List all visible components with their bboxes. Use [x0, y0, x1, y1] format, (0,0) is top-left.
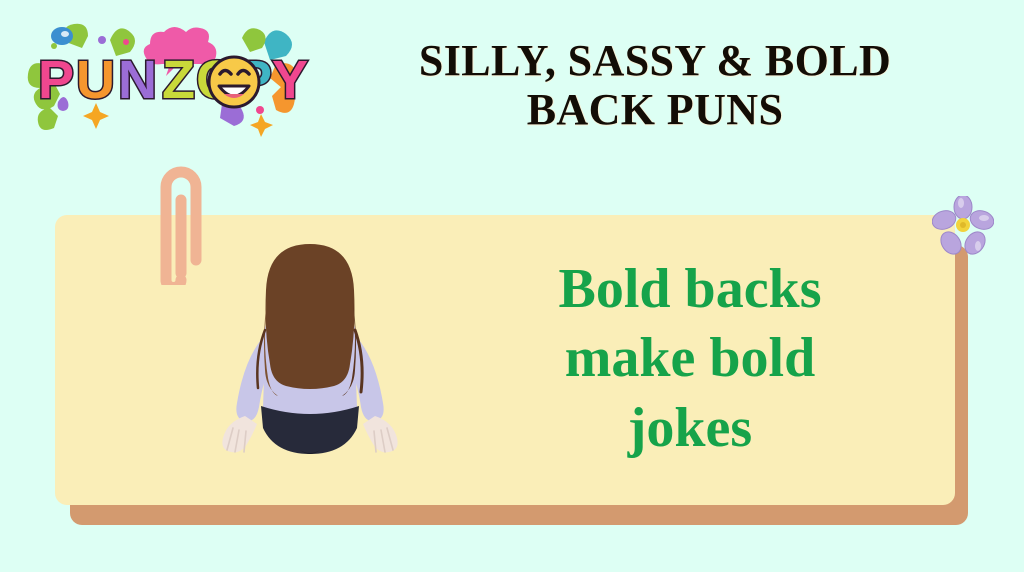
laughing-face-emoji: [209, 57, 259, 107]
flower-icon: [932, 196, 994, 258]
svg-text:N: N: [118, 50, 157, 110]
svg-text:P: P: [38, 50, 74, 110]
pun-text: Bold backs make bold jokes: [470, 255, 910, 463]
svg-text:Y: Y: [272, 50, 308, 110]
poster-canvas: P U N Z C Y P SILLY, SASSY & BOLD BACK P…: [0, 0, 1024, 572]
pun-line-3: jokes: [470, 394, 910, 463]
page-title: SILLY, SASSY & BOLD BACK PUNS: [330, 36, 980, 135]
pun-line-2: make bold: [470, 324, 910, 393]
logo-wordmark: P U N Z C Y P: [38, 50, 308, 110]
pun-line-1: Bold backs: [470, 255, 910, 324]
page-title-line-2: BACK PUNS: [330, 85, 980, 134]
svg-text:Z: Z: [162, 50, 195, 110]
woman-sitting-back-view-illustration: [205, 238, 415, 483]
page-title-line-1: SILLY, SASSY & BOLD: [330, 36, 980, 85]
svg-text:U: U: [76, 50, 115, 110]
logo-blue-blob: [51, 27, 73, 45]
punzcopy-logo[interactable]: P U N Z C Y P: [14, 12, 314, 140]
